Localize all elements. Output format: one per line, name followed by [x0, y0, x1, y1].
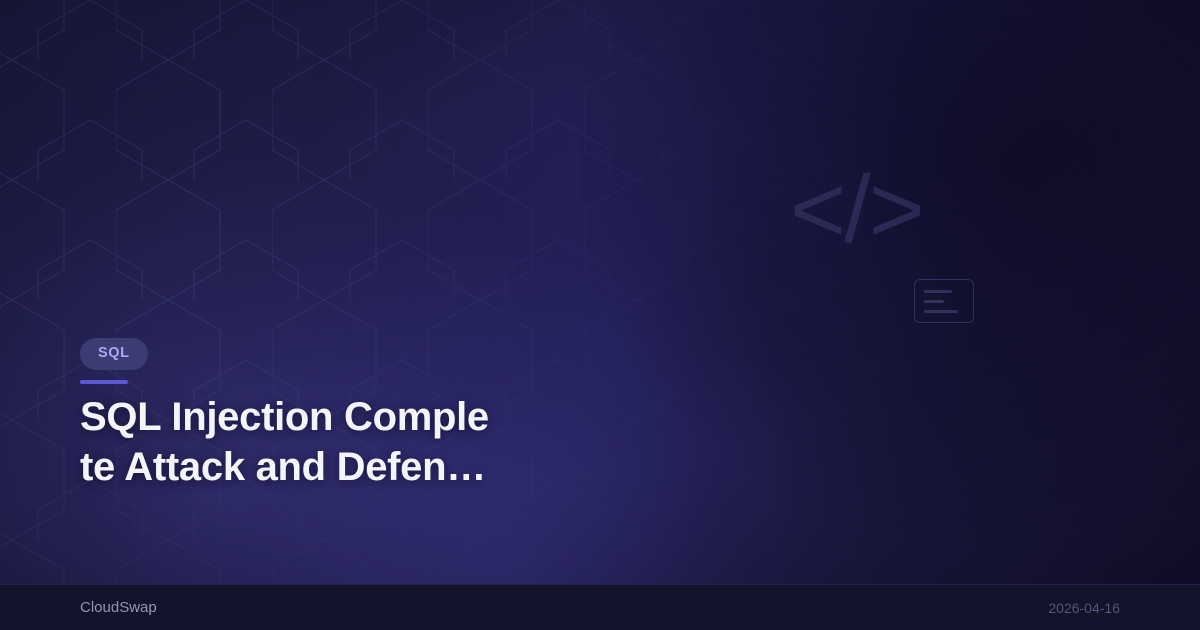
brand-name[interactable]: CloudSwap	[80, 599, 157, 616]
page-title: SQL Injection Comple te Attack and Defen…	[80, 392, 500, 492]
code-brackets-icon: </>	[790, 160, 970, 260]
document-card-icon	[914, 279, 974, 323]
social-share-card: </> SQL SQL Injection Comple te Attack a…	[0, 0, 1200, 630]
accent-rule	[80, 380, 128, 384]
card-content: SQL SQL Injection Comple te Attack and D…	[80, 338, 720, 492]
publish-date: 2026-04-16	[1048, 600, 1120, 616]
hexagon-mesh-pattern	[0, 0, 860, 600]
doc-line-3	[924, 310, 958, 313]
page-title-line-2: te Attack and Defen…	[80, 442, 500, 492]
category-badge[interactable]: SQL	[80, 338, 148, 370]
card-footer: CloudSwap 2026-04-16	[0, 584, 1200, 630]
doc-line-1	[924, 290, 952, 293]
doc-line-2	[924, 300, 944, 303]
vignette-overlay	[0, 0, 1200, 630]
page-title-line-1: SQL Injection Comple	[80, 392, 500, 442]
